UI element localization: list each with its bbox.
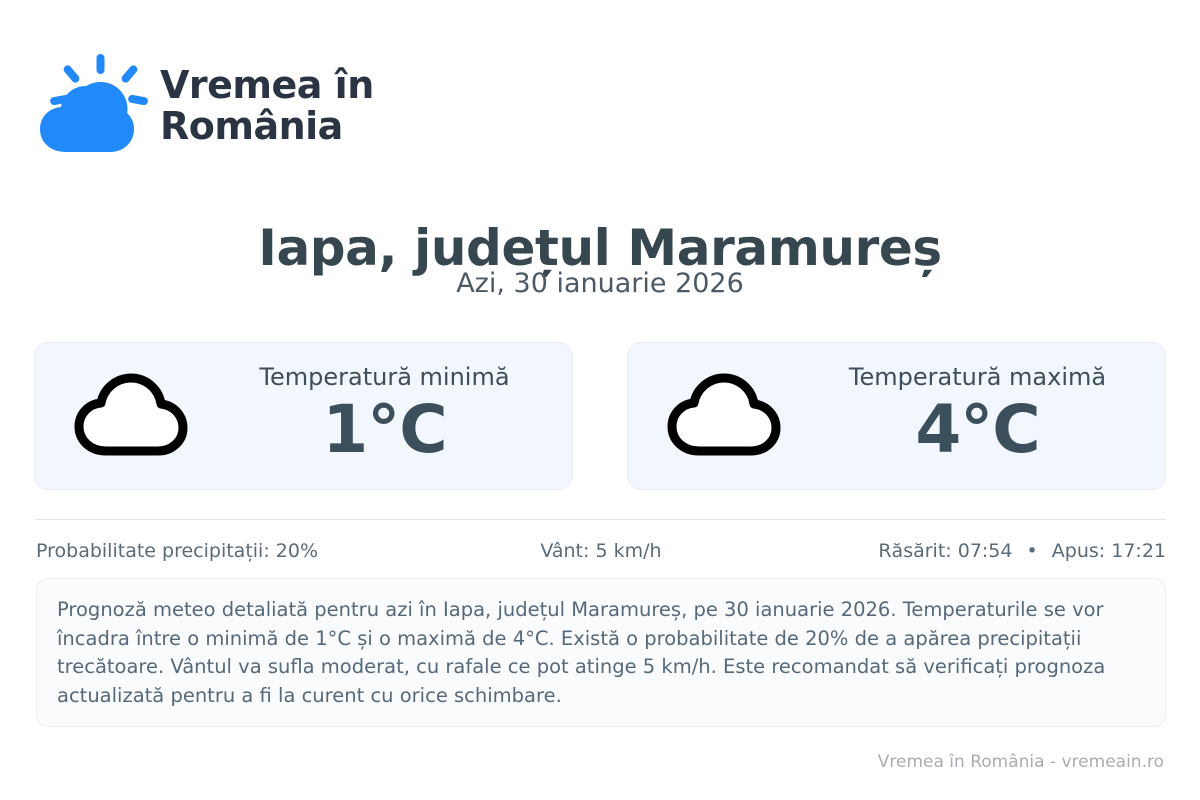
temperature-cards: Temperatură minimă 1°C Temperatură maxim…	[34, 342, 1166, 490]
wind-detail: Vânt: 5 km/h	[413, 540, 790, 562]
min-temperature-label: Temperatură minimă	[259, 363, 509, 392]
page-date: Azi, 30 ianuarie 2026	[0, 268, 1200, 299]
sun-times-detail: Răsărit: 07:54 • Apus: 17:21	[789, 540, 1166, 562]
forecast-description: Prognoză meteo detaliată pentru azi în I…	[36, 578, 1166, 727]
site-logo[interactable]: Vremea în România	[36, 52, 374, 160]
section-divider	[36, 519, 1166, 520]
sun-behind-cloud-icon	[36, 52, 148, 160]
weather-details-row: Probabilitate precipitații: 20% Vânt: 5 …	[36, 540, 1166, 562]
sunset-time: Apus: 17:21	[1052, 540, 1166, 562]
min-temperature-card: Temperatură minimă 1°C	[34, 342, 573, 490]
max-temperature-card: Temperatură maximă 4°C	[627, 342, 1166, 490]
max-temperature-value: 4°C	[915, 393, 1039, 467]
weather-page: Vremea în România Iapa, județul Maramure…	[0, 0, 1200, 800]
site-logo-text: Vremea în România	[160, 65, 374, 147]
cloud-icon	[69, 370, 197, 462]
max-temperature-label: Temperatură maximă	[849, 363, 1106, 392]
min-temperature-value: 1°C	[322, 393, 446, 467]
precipitation-detail: Probabilitate precipitații: 20%	[36, 540, 413, 562]
cloud-icon	[662, 370, 790, 462]
max-temperature-body: Temperatură maximă 4°C	[816, 363, 1139, 468]
sunrise-time: Răsărit: 07:54	[878, 540, 1012, 562]
sun-times-separator: •	[1019, 540, 1046, 562]
footer-credit: Vremea în România - vremeain.ro	[878, 752, 1164, 772]
min-temperature-body: Temperatură minimă 1°C	[223, 363, 546, 468]
